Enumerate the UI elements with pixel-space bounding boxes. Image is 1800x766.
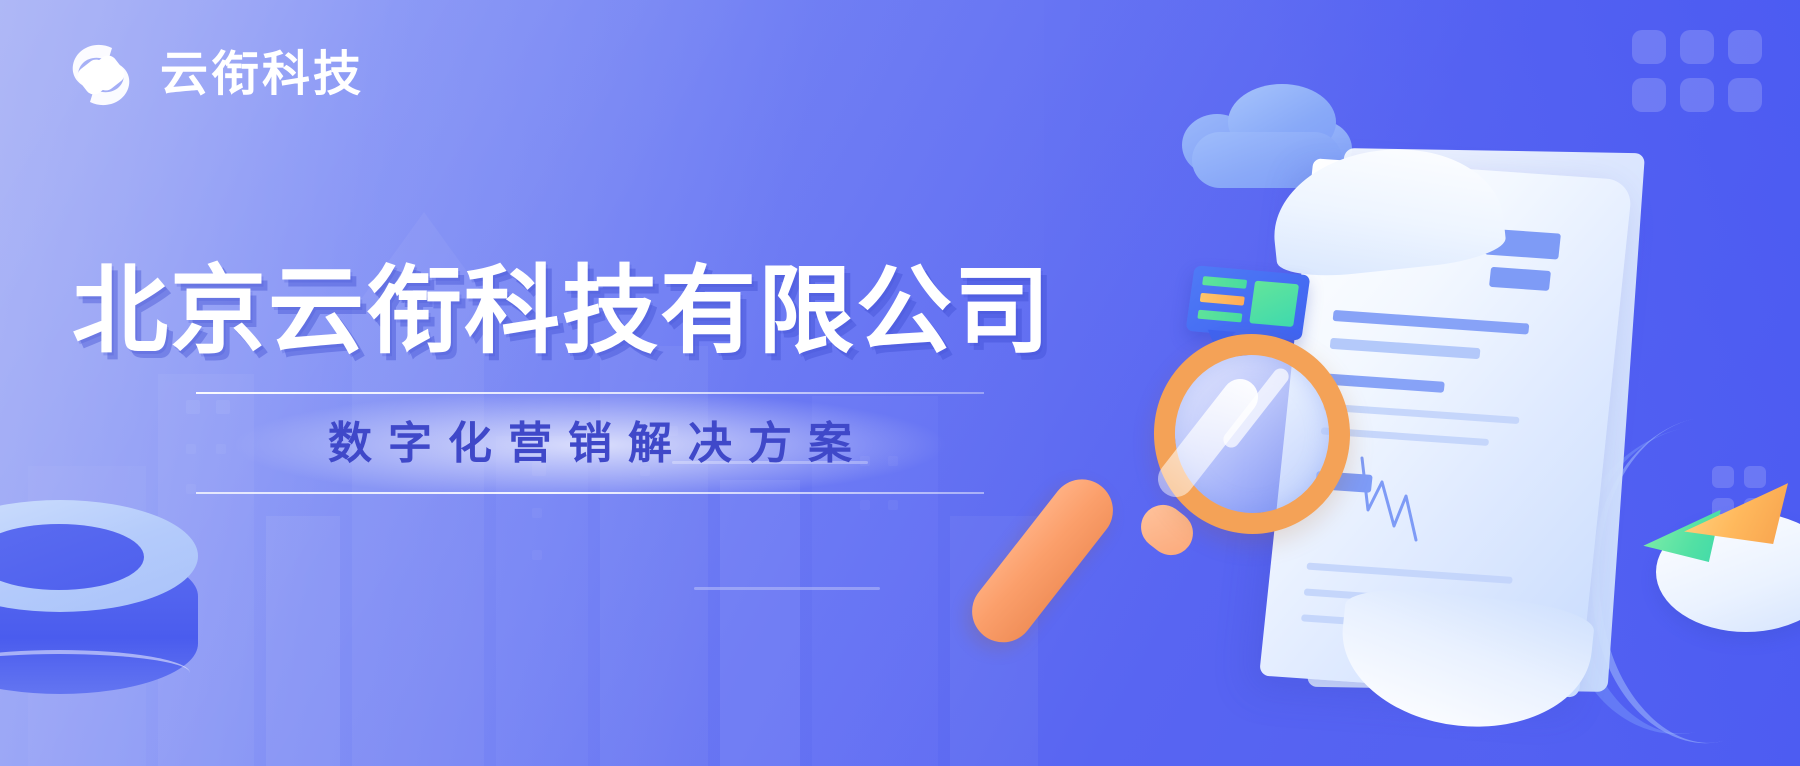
hero-illustration	[1040, 0, 1800, 766]
yunxian-s-mark-icon	[62, 36, 140, 114]
company-banner: 云衔科技 北京云衔科技有限公司 数字化营销解决方案	[0, 0, 1800, 766]
divider-bottom	[196, 492, 984, 494]
magnifying-glass-icon	[1062, 320, 1362, 620]
ring-3d-icon	[0, 500, 198, 730]
brand-name: 云衔科技	[160, 51, 364, 99]
subtitle-block: 数字化营销解决方案	[196, 392, 984, 494]
zigzag-line-chart-icon	[1358, 452, 1454, 544]
page-title: 北京云衔科技有限公司	[72, 260, 1082, 364]
page-subtitle: 数字化营销解决方案	[196, 422, 984, 466]
brand-logo[interactable]: 云衔科技	[62, 36, 364, 114]
pie-chart-3d-icon	[1638, 452, 1800, 642]
